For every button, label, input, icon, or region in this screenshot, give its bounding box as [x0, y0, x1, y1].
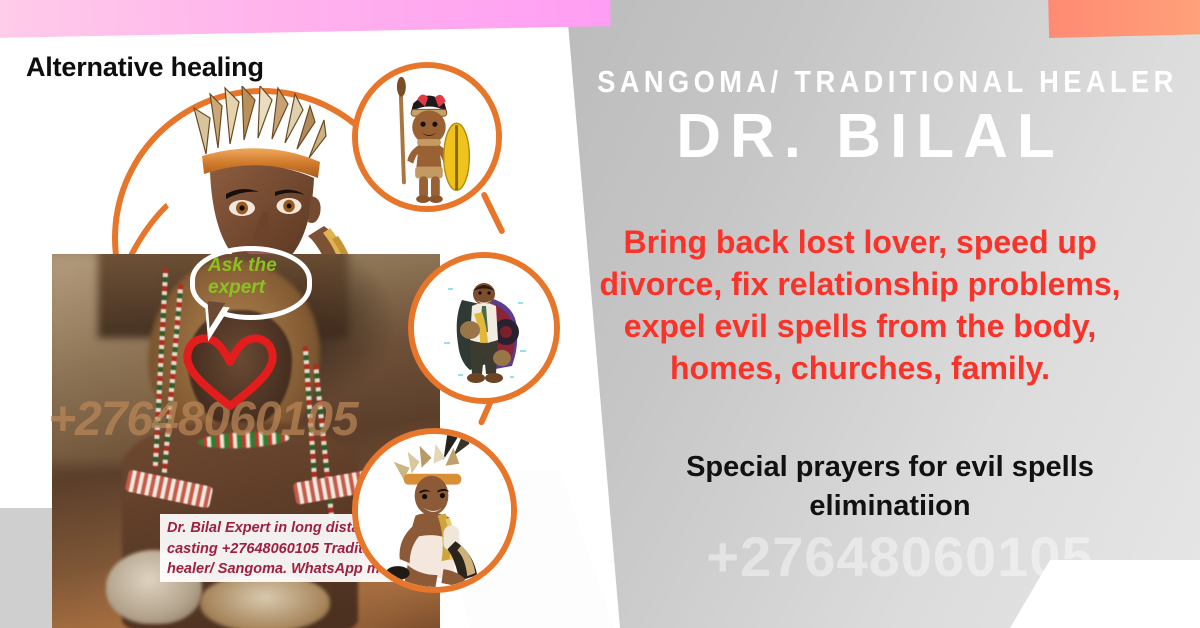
- red-heart-icon: [178, 328, 282, 412]
- phone-number-watermark: +27648060105: [600, 524, 1200, 589]
- services-line-1: Bring back lost lover, speed up: [540, 222, 1180, 264]
- special-line-1: Special prayers for evil spells: [600, 448, 1180, 487]
- services-line-3: expel evil spells from the body,: [540, 306, 1180, 348]
- services-line-2: divorce, fix relationship problems,: [540, 264, 1180, 306]
- circle-crouching-dancer: [352, 428, 517, 593]
- speech-bubble-label: Ask the expert: [208, 255, 304, 300]
- photo-divination-items: [200, 574, 330, 628]
- speech-bubble-tail-inner: [205, 301, 226, 330]
- orange-gradient-band: [1048, 0, 1200, 38]
- circle-zulu-warrior: [352, 62, 502, 212]
- poster-canvas: Alternative healing: [0, 0, 1200, 628]
- special-line-2: eliminatiion: [600, 487, 1180, 526]
- caption-line-3: healer/ Sangoma. WhatsApp me: [167, 559, 404, 580]
- services-line-4: homes, churches, family.: [540, 348, 1180, 390]
- special-prayers-text: Special prayers for evil spells eliminat…: [600, 448, 1180, 527]
- kicker-heading: SANGOMA/ TRADITIONAL HEALER: [597, 64, 1143, 100]
- circle-healer-robe: [408, 252, 560, 404]
- services-text: Bring back lost lover, speed up divorce,…: [540, 222, 1180, 390]
- doctor-name-heading: DR. BILAL: [560, 104, 1180, 169]
- alternative-healing-heading: Alternative healing: [26, 52, 264, 83]
